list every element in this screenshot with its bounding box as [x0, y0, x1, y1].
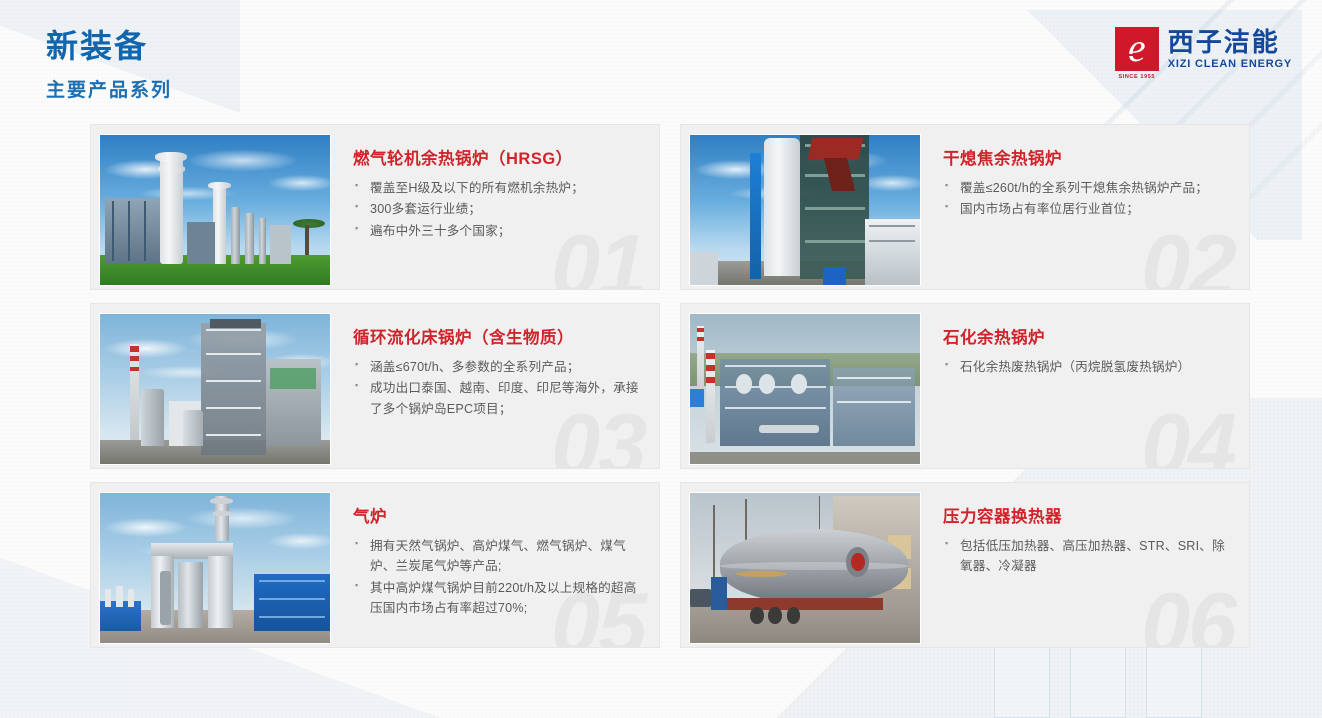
list-item: 300多套运行业绩；: [353, 199, 643, 219]
gas-turbine-hrsg-plant-photo: [99, 134, 331, 286]
pressure-vessel-transport-photo: [689, 492, 921, 644]
card-bullet-list: 覆盖≤260t/h的全系列干熄焦余热锅炉产品； 国内市场占有率位居行业首位；: [943, 178, 1233, 220]
product-card[interactable]: 06: [680, 482, 1250, 648]
gas-fired-boiler-photo: [99, 492, 331, 644]
cfb-boiler-plant-photo: [99, 313, 331, 465]
product-card[interactable]: 04: [680, 303, 1250, 469]
logo-e-icon: e: [1115, 27, 1159, 71]
list-item: 包括低压加热器、高压加热器、STR、SRI、除氧器、冷凝器: [943, 536, 1233, 577]
product-card-grid: 01 燃气轮机余热: [90, 124, 1270, 648]
card-bullet-list: 覆盖至H级及以下的所有燃机余热炉； 300多套运行业绩； 遍布中外三十多个国家；: [353, 178, 643, 241]
list-item: 拥有天然气锅炉、高炉煤气、燃气锅炉、煤气炉、兰炭尾气炉等产品;: [353, 536, 643, 577]
card-body: 燃气轮机余热锅炉（HRSG） 覆盖至H级及以下的所有燃机余热炉； 300多套运行…: [331, 125, 659, 289]
product-card[interactable]: 01 燃气轮机余热: [90, 124, 660, 290]
logo-e-crossbar: [1122, 54, 1152, 56]
list-item: 国内市场占有率位居行业首位；: [943, 199, 1233, 219]
card-title: 燃气轮机余热锅炉（HRSG）: [353, 145, 643, 169]
card-bullet-list: 石化余热废热锅炉（丙烷脱氢废热锅炉）: [943, 357, 1233, 377]
list-item: 成功出口泰国、越南、印度、印尼等海外，承接了多个锅炉岛EPC项目；: [353, 378, 643, 419]
list-item: 覆盖≤260t/h的全系列干熄焦余热锅炉产品；: [943, 178, 1233, 198]
card-body: 石化余热锅炉 石化余热废热锅炉（丙烷脱氢废热锅炉）: [921, 304, 1249, 468]
card-title: 循环流化床锅炉（含生物质）: [353, 324, 643, 348]
logo-wordmark: 西子洁能 XIZI CLEAN ENERGY: [1168, 27, 1292, 70]
card-title: 干熄焦余热锅炉: [943, 145, 1233, 169]
logo-mark: e SINCE 1955: [1115, 27, 1159, 80]
card-title: 气炉: [353, 503, 643, 527]
coke-dry-quenching-tower-photo: [689, 134, 921, 286]
slide-canvas: 新装备 主要产品系列 e SINCE 1955 西子洁能 XIZI CLEAN …: [0, 0, 1322, 718]
slide-header: 新装备 主要产品系列: [46, 28, 172, 102]
list-item: 其中高炉煤气锅炉目前220t/h及以上规格的超高压国内市场占有率超过70%;: [353, 578, 643, 619]
company-logo: e SINCE 1955 西子洁能 XIZI CLEAN ENERGY: [1115, 27, 1292, 80]
logo-name-cn: 西子洁能: [1168, 29, 1292, 56]
card-body: 压力容器换热器 包括低压加热器、高压加热器、STR、SRI、除氧器、冷凝器: [921, 483, 1249, 647]
card-bullet-list: 包括低压加热器、高压加热器、STR、SRI、除氧器、冷凝器: [943, 536, 1233, 577]
card-title: 压力容器换热器: [943, 503, 1233, 527]
logo-name-en: XIZI CLEAN ENERGY: [1168, 58, 1292, 70]
list-item: 覆盖至H级及以下的所有燃机余热炉；: [353, 178, 643, 198]
card-body: 干熄焦余热锅炉 覆盖≤260t/h的全系列干熄焦余热锅炉产品； 国内市场占有率位…: [921, 125, 1249, 289]
card-title: 石化余热锅炉: [943, 324, 1233, 348]
product-card[interactable]: 02 干熄焦余热锅炉: [680, 124, 1250, 290]
logo-since-text: SINCE 1955: [1118, 74, 1155, 80]
card-body: 气炉 拥有天然气锅炉、高炉煤气、燃气锅炉、煤气炉、兰炭尾气炉等产品; 其中高炉煤…: [331, 483, 659, 647]
page-subtitle: 主要产品系列: [46, 75, 172, 102]
card-bullet-list: 涵盖≤670t/h、多参数的全系列产品； 成功出口泰国、越南、印度、印尼等海外，…: [353, 357, 643, 419]
list-item: 石化余热废热锅炉（丙烷脱氢废热锅炉）: [943, 357, 1233, 377]
page-title: 新装备: [46, 28, 172, 65]
petrochemical-plant-aerial-photo: [689, 313, 921, 465]
logo-letter: e: [1128, 30, 1146, 66]
card-body: 循环流化床锅炉（含生物质） 涵盖≤670t/h、多参数的全系列产品； 成功出口泰…: [331, 304, 659, 468]
list-item: 涵盖≤670t/h、多参数的全系列产品；: [353, 357, 643, 377]
product-card[interactable]: 05 气炉: [90, 482, 660, 648]
list-item: 遍布中外三十多个国家；: [353, 221, 643, 241]
card-bullet-list: 拥有天然气锅炉、高炉煤气、燃气锅炉、煤气炉、兰炭尾气炉等产品; 其中高炉煤气锅炉…: [353, 536, 643, 619]
product-card[interactable]: 03 循环流化床锅: [90, 303, 660, 469]
